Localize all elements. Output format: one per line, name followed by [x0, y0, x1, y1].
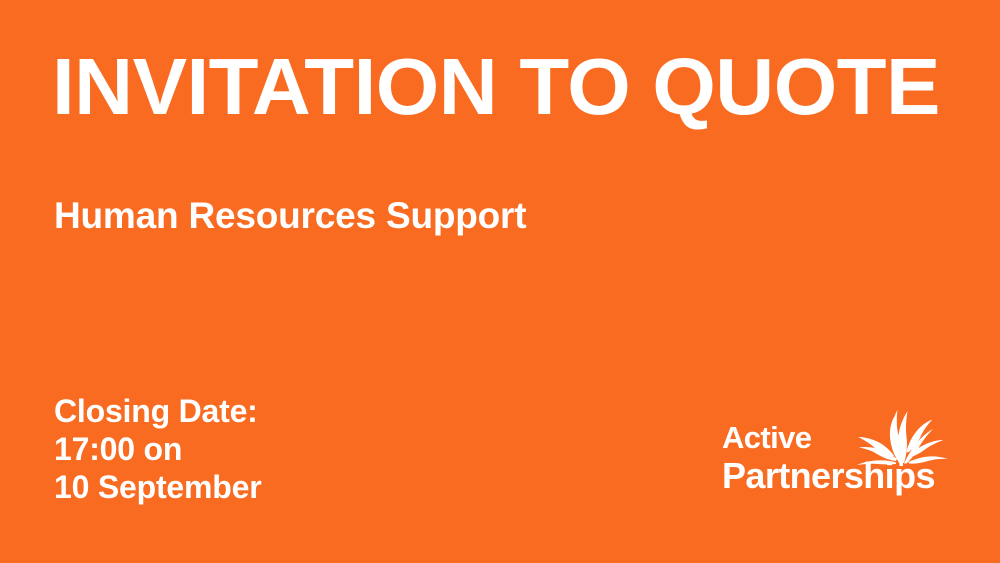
closing-time-value: 17:00 on	[54, 430, 261, 468]
page-subtitle: Human Resources Support	[54, 194, 526, 238]
page-title: INVITATION TO QUOTE	[52, 44, 940, 130]
closing-date-label: Closing Date:	[54, 392, 261, 430]
closing-date-block: Closing Date: 17:00 on 10 September	[54, 392, 261, 506]
logo-text-partnerships: Partnerships	[722, 456, 954, 496]
closing-date-value: 10 September	[54, 468, 261, 506]
active-partnerships-logo: Active Partnerships	[722, 404, 954, 512]
logo-wordmark: Active Partnerships	[722, 420, 954, 496]
invitation-to-quote-poster: INVITATION TO QUOTE Human Resources Supp…	[0, 0, 1000, 563]
logo-text-active: Active	[722, 420, 954, 456]
